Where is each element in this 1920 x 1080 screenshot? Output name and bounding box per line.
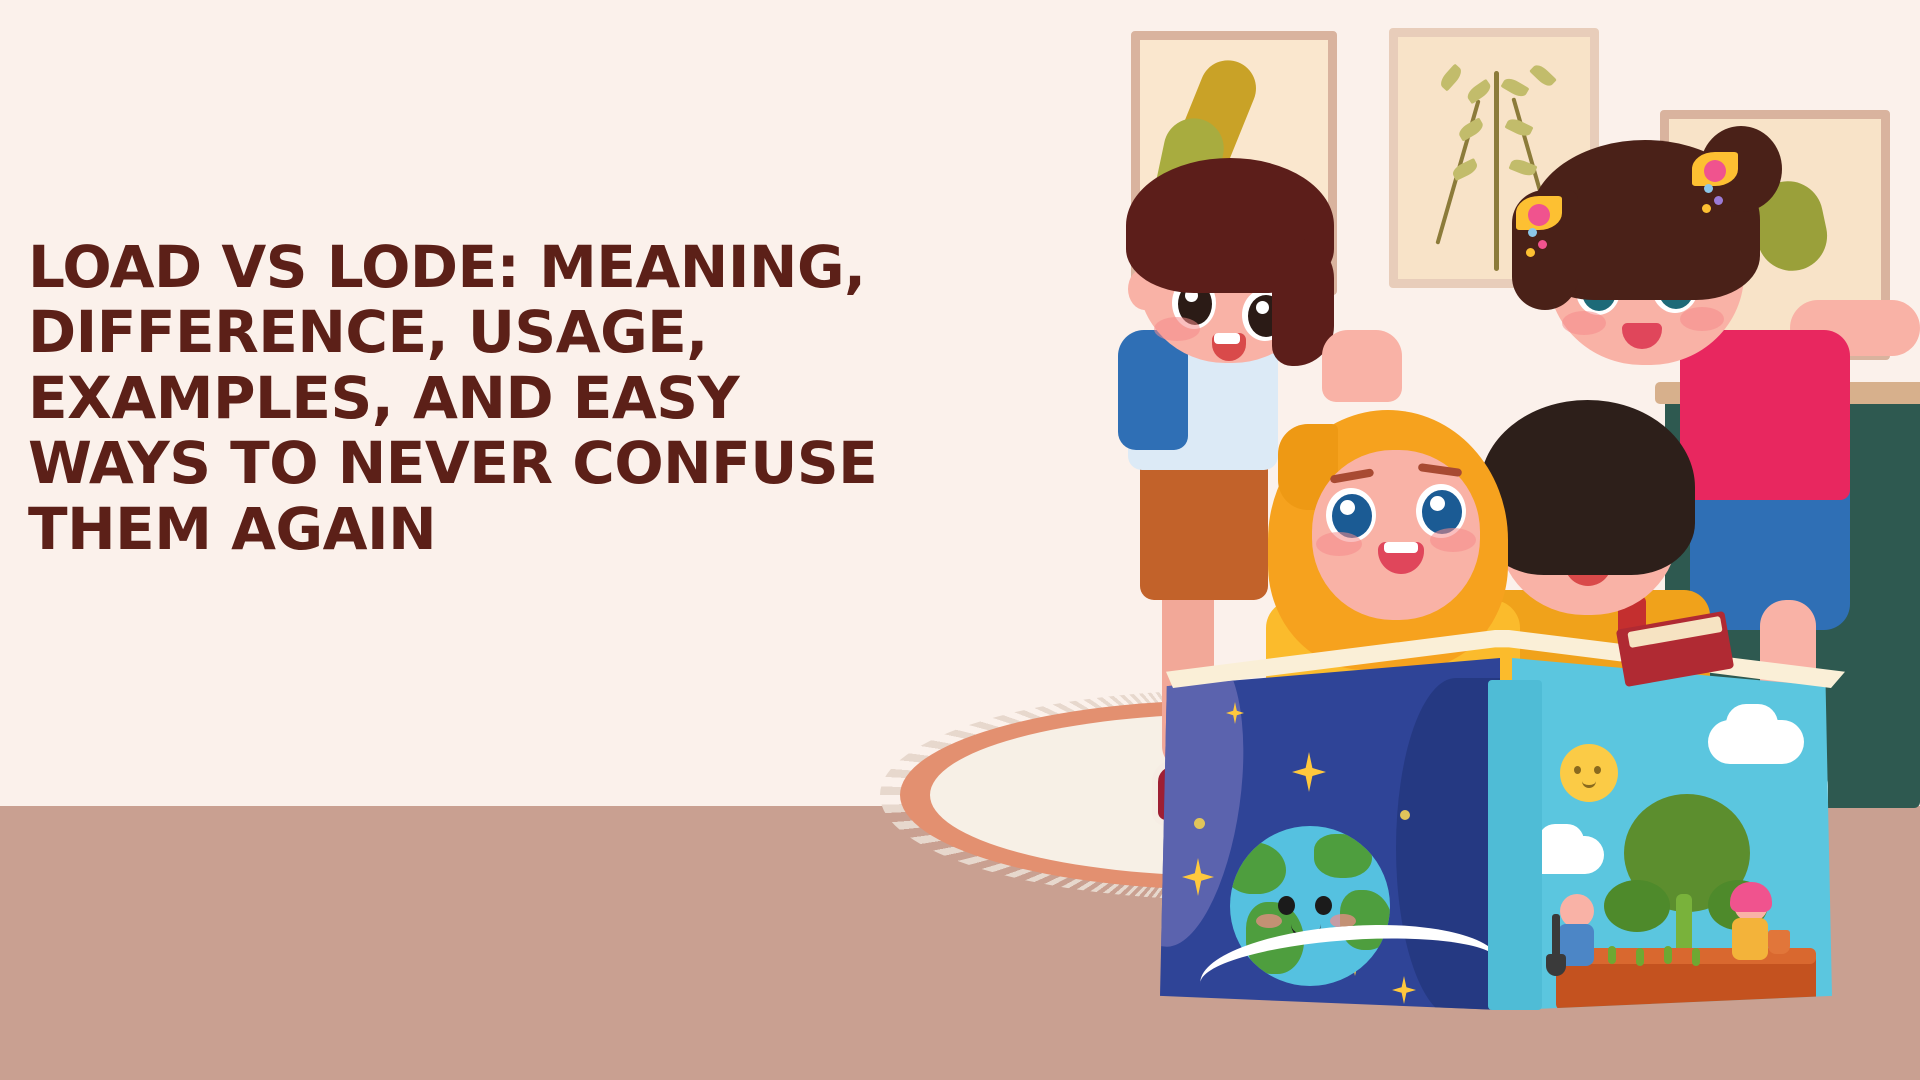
- plant-leaf: [1437, 63, 1464, 91]
- sprout: [1692, 948, 1700, 966]
- watering-pot: [1768, 930, 1790, 954]
- earth-eye-left: [1278, 896, 1295, 915]
- blush-right: [1680, 307, 1724, 331]
- teeth: [1384, 542, 1418, 553]
- hair-bead: [1528, 228, 1537, 237]
- title-line-4: WAYS TO NEVER CONFUSE: [28, 431, 948, 497]
- title-line-5: THEM AGAIN: [28, 497, 948, 563]
- star-dot: [1194, 818, 1205, 829]
- continent: [1230, 842, 1286, 894]
- star-icon: [1292, 752, 1326, 792]
- sun-eye-right: [1594, 766, 1601, 774]
- title-line-2: DIFFERENCE, USAGE,: [28, 300, 948, 366]
- blush-left: [1562, 311, 1606, 335]
- book-spine: [1488, 680, 1542, 1010]
- plant-leaf: [1500, 75, 1529, 99]
- sun-smile: [1582, 778, 1596, 788]
- shovel-blade: [1546, 954, 1566, 976]
- title-line-1: LOAD VS LODE: MEANING,: [28, 235, 948, 301]
- eye-highlight-right: [1256, 301, 1269, 314]
- mouth: [1622, 323, 1662, 349]
- hair-bead: [1714, 196, 1723, 205]
- sun-eye-left: [1574, 766, 1581, 774]
- girl-shirt: [1680, 330, 1850, 500]
- teeth: [1214, 333, 1240, 344]
- hair-bead: [1538, 240, 1547, 249]
- boy-hand-raised: [1322, 330, 1402, 402]
- blush-left: [1154, 317, 1200, 341]
- hair-bow-knot-right: [1704, 160, 1726, 182]
- tree-crown-lower-left: [1604, 880, 1670, 932]
- book-right-page-garden: [1512, 658, 1832, 1010]
- page-title: LOAD VS LODE: MEANING, DIFFERENCE, USAGE…: [28, 235, 948, 563]
- sprout: [1664, 946, 1672, 964]
- hijab-face: [1312, 450, 1480, 620]
- garden-kid-hijab-right: [1730, 882, 1772, 912]
- hair-bead: [1704, 184, 1713, 193]
- garden-kid-body-right: [1732, 918, 1768, 960]
- plant-leaf: [1504, 116, 1533, 139]
- boy-yellow-hair: [1480, 400, 1695, 575]
- sprout: [1608, 946, 1616, 964]
- shovel-handle: [1552, 914, 1560, 958]
- banner-root: LOAD VS LODE: MEANING, DIFFERENCE, USAGE…: [0, 0, 1920, 1080]
- blush-right: [1430, 528, 1476, 552]
- blush-left: [1316, 532, 1362, 556]
- hair-bead: [1526, 248, 1535, 257]
- earth-blush-left: [1256, 914, 1282, 928]
- plant-stem-main: [1494, 71, 1499, 271]
- plant-leaf: [1529, 62, 1557, 89]
- picture-book: [1160, 620, 1700, 1020]
- sun-icon: [1560, 744, 1618, 802]
- cloud-icon: [1538, 824, 1584, 858]
- book-left-page-space: [1160, 658, 1500, 1010]
- plant-leaf: [1456, 117, 1485, 141]
- eye-highlight-left: [1340, 500, 1355, 515]
- hair-bow-knot-left: [1528, 204, 1550, 226]
- star-dot: [1400, 810, 1410, 820]
- plant-leaf: [1450, 158, 1479, 181]
- cloud-icon: [1726, 704, 1778, 744]
- eye-highlight-right: [1430, 496, 1445, 511]
- hair-bead: [1702, 204, 1711, 213]
- earth-eye-right: [1315, 896, 1332, 915]
- continent: [1314, 834, 1372, 878]
- garden-kid-head-left: [1560, 894, 1594, 928]
- sprout: [1636, 948, 1644, 966]
- title-line-3: EXAMPLES, AND EASY: [28, 366, 948, 432]
